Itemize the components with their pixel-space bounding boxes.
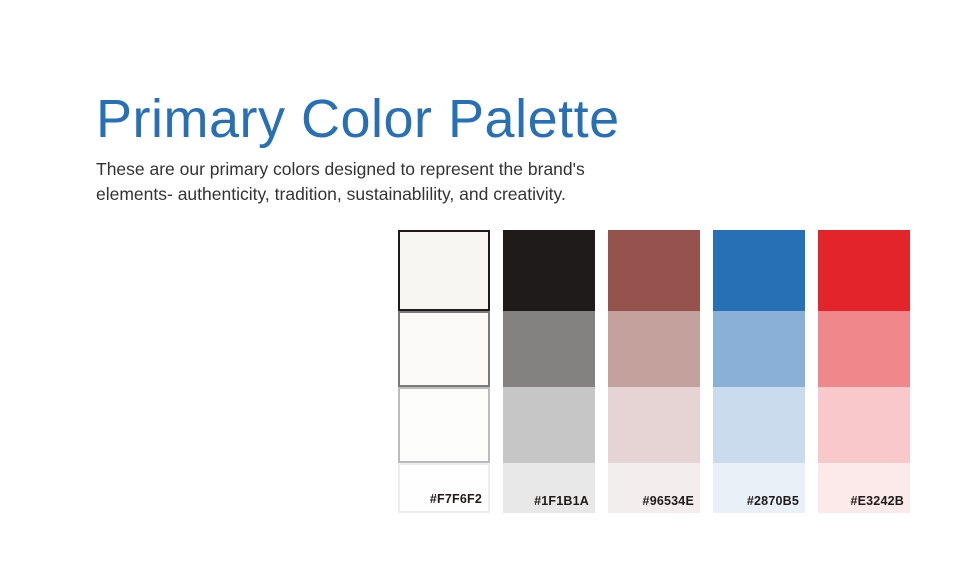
swatch-tile-brand-red-2[interactable] bbox=[818, 387, 910, 463]
swatch-tile-off-white-3[interactable]: #F7F6F2 bbox=[398, 463, 490, 513]
swatch-column-brand-blue[interactable]: #2870B5 bbox=[713, 230, 805, 513]
hex-label-brand-blue: #2870B5 bbox=[747, 494, 799, 508]
slide-canvas: Primary Color Palette These are our prim… bbox=[0, 0, 979, 582]
swatch-tile-mauve-brick-0[interactable] bbox=[608, 230, 700, 311]
heading-block: Primary Color Palette These are our prim… bbox=[96, 88, 696, 207]
hex-label-brand-red: #E3242B bbox=[850, 494, 904, 508]
hex-label-off-white: #F7F6F2 bbox=[430, 492, 482, 506]
swatch-tile-off-white-2[interactable] bbox=[398, 387, 490, 463]
swatch-tile-near-black-0[interactable] bbox=[503, 230, 595, 311]
swatch-tile-brand-blue-3[interactable]: #2870B5 bbox=[713, 463, 805, 513]
swatch-tile-off-white-0[interactable] bbox=[398, 230, 490, 311]
swatch-tile-off-white-1[interactable] bbox=[398, 311, 490, 387]
swatch-column-brand-red[interactable]: #E3242B bbox=[818, 230, 910, 513]
swatch-tile-brand-red-0[interactable] bbox=[818, 230, 910, 311]
swatch-tile-mauve-brick-3[interactable]: #96534E bbox=[608, 463, 700, 513]
color-palette: #F7F6F2#1F1B1A#96534E#2870B5#E3242B bbox=[398, 230, 910, 513]
swatch-tile-brand-red-3[interactable]: #E3242B bbox=[818, 463, 910, 513]
swatch-column-mauve-brick[interactable]: #96534E bbox=[608, 230, 700, 513]
page-subtitle: These are our primary colors designed to… bbox=[96, 157, 656, 207]
swatch-tile-brand-blue-0[interactable] bbox=[713, 230, 805, 311]
swatch-tile-near-black-3[interactable]: #1F1B1A bbox=[503, 463, 595, 513]
swatch-tile-brand-red-1[interactable] bbox=[818, 311, 910, 387]
swatch-tile-mauve-brick-1[interactable] bbox=[608, 311, 700, 387]
swatch-tile-near-black-1[interactable] bbox=[503, 311, 595, 387]
swatch-tile-brand-blue-1[interactable] bbox=[713, 311, 805, 387]
swatch-tile-brand-blue-2[interactable] bbox=[713, 387, 805, 463]
page-title: Primary Color Palette bbox=[96, 88, 696, 150]
swatch-column-near-black[interactable]: #1F1B1A bbox=[503, 230, 595, 513]
swatch-tile-mauve-brick-2[interactable] bbox=[608, 387, 700, 463]
swatch-column-off-white[interactable]: #F7F6F2 bbox=[398, 230, 490, 513]
hex-label-near-black: #1F1B1A bbox=[534, 494, 589, 508]
swatch-tile-near-black-2[interactable] bbox=[503, 387, 595, 463]
hex-label-mauve-brick: #96534E bbox=[643, 494, 694, 508]
